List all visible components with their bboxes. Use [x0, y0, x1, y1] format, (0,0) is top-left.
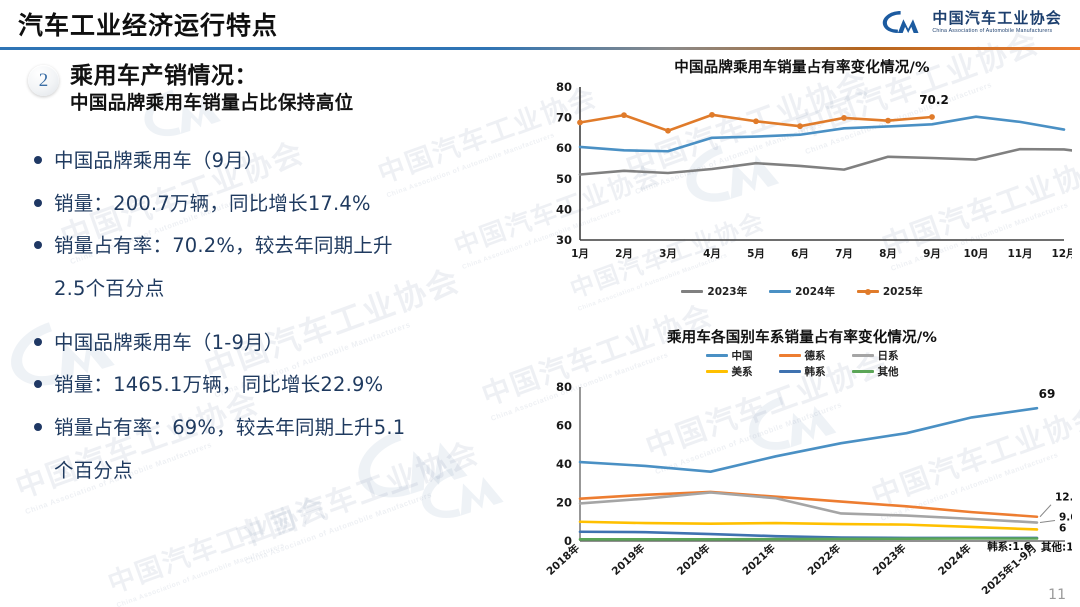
- data-label: 70.2: [919, 93, 949, 107]
- series-line-韩系: [580, 532, 1037, 538]
- chart-bottom-svg: 0204060802018年2019年2020年2021年2022年2023年2…: [532, 379, 1072, 594]
- bullet-text: 销量：1465.1万辆，同比增长22.9%: [54, 371, 383, 399]
- page-title: 汽车工业经济运行特点: [18, 6, 278, 42]
- data-label: 12.6: [1055, 492, 1072, 504]
- x-axis-tick-label: 2019年: [609, 541, 648, 578]
- series-line-日系: [580, 492, 1037, 522]
- x-axis-tick-label: 10月: [963, 248, 988, 260]
- legend-swatch: [706, 354, 728, 357]
- x-axis-tick-label: 9月: [923, 248, 941, 260]
- x-axis-tick-label: 4月: [703, 248, 721, 260]
- y-axis-tick-label: 40: [556, 457, 572, 471]
- bullet-text: 中国品牌乘用车（1-9月）: [54, 329, 283, 357]
- data-label: 69: [1039, 387, 1056, 401]
- bullet-text: 个百分点: [54, 457, 133, 485]
- legend-swatch: [852, 354, 874, 357]
- legend-label: 其他: [878, 364, 899, 379]
- y-axis-tick-label: 20: [556, 496, 572, 510]
- x-axis-tick-label: 2021年: [740, 541, 779, 578]
- legend-swatch: [681, 290, 703, 293]
- section-heading: 2 乘用车产销情况： 中国品牌乘用车销量占比保持高位: [28, 62, 354, 115]
- legend-item-韩系: 韩系: [779, 364, 826, 379]
- series-marker-2025年: [577, 120, 583, 126]
- chart-china-brand-share: 中国品牌乘用车销量占有率变化情况/% 3040506070801月2月3月4月5…: [532, 56, 1072, 316]
- legend-label: 韩系: [805, 364, 826, 379]
- legend-item-其他: 其他: [852, 364, 899, 379]
- x-axis-tick-label: 5月: [747, 248, 765, 260]
- series-marker-2025年: [929, 114, 935, 120]
- chart-bottom-legend: 中国德系日系美系韩系其他: [532, 348, 1072, 379]
- bullet-item: 个百分点: [34, 457, 520, 485]
- y-axis-tick-label: 60: [556, 141, 572, 155]
- x-axis-tick-label: 2023年: [870, 541, 909, 578]
- page-number: 11: [1048, 587, 1066, 603]
- x-axis-tick-label: 12月: [1051, 248, 1072, 260]
- legend-item-美系: 美系: [706, 364, 753, 379]
- bullet-text: 2.5个百分点: [54, 275, 164, 303]
- series-line-其他: [580, 538, 1037, 539]
- legend-label: 2025年: [883, 284, 923, 299]
- caam-logo-icon: [880, 8, 924, 36]
- legend-swatch: [769, 290, 791, 293]
- bullet-item: 2.5个百分点: [34, 275, 520, 303]
- series-marker-2025年: [665, 128, 671, 134]
- y-axis-tick-label: 50: [556, 172, 572, 186]
- legend-item-中国: 中国: [706, 348, 753, 363]
- x-axis-tick-label: 8月: [879, 248, 897, 260]
- legend-swatch: [779, 354, 801, 357]
- leader-line-japan: [1040, 521, 1055, 523]
- bullet-list: 中国品牌乘用车（9月）销量：200.7万辆，同比增长17.4%销量占有率：70.…: [34, 147, 520, 500]
- legend-item-日系: 日系: [852, 348, 899, 363]
- data-label: 韩系:1.6: [987, 540, 1031, 553]
- legend-swatch: [706, 370, 728, 373]
- bullet-dot-icon: [34, 156, 42, 164]
- chart-top-legend: 2023年2024年2025年: [532, 284, 1072, 299]
- legend-swatch: [779, 370, 801, 373]
- x-axis-tick-group: 2021年: [740, 541, 779, 578]
- x-axis-tick-label: 2020年: [674, 541, 713, 578]
- x-axis-tick-label: 2024年: [935, 541, 974, 578]
- section-number: 2: [39, 71, 49, 90]
- legend-label: 德系: [805, 348, 826, 363]
- bullet-text: 中国品牌乘用车（9月）: [54, 147, 264, 175]
- logo-title-cn: 中国汽车工业协会: [932, 10, 1062, 27]
- bullet-item: 销量：200.7万辆，同比增长17.4%: [34, 190, 520, 218]
- legend-item-2024年: 2024年: [769, 284, 835, 299]
- section-title-line1: 乘用车产销情况：: [70, 62, 354, 90]
- data-label: 其他:1.3: [1041, 540, 1072, 553]
- bullet-text: 销量占有率：70.2%，较去年同期上升: [54, 232, 393, 260]
- x-axis-tick-group: 2024年: [935, 541, 974, 578]
- bullet-dot-icon: [34, 380, 42, 388]
- legend-label: 中国: [732, 348, 753, 363]
- x-axis-tick-label: 2022年: [805, 541, 844, 578]
- chart-bottom-title: 乘用车各国别车系销量占有率变化情况/%: [532, 326, 1072, 347]
- bullet-dot-icon: [34, 338, 42, 346]
- y-axis-tick-label: 40: [556, 202, 572, 216]
- bullet-item: 中国品牌乘用车（1-9月）: [34, 329, 520, 357]
- bullet-text: 销量：200.7万辆，同比增长17.4%: [54, 190, 371, 218]
- series-marker-2025年: [709, 112, 715, 118]
- series-line-中国: [580, 408, 1037, 472]
- x-axis-tick-label: 11月: [1007, 248, 1032, 260]
- x-axis-tick-label: 6月: [791, 248, 809, 260]
- leader-line-degi: [1040, 505, 1051, 517]
- legend-label: 美系: [732, 364, 753, 379]
- bullet-item: 中国品牌乘用车（9月）: [34, 147, 520, 175]
- bullet-text: 销量占有率：69%，较去年同期上升5.1: [54, 414, 405, 442]
- chart-top-title: 中国品牌乘用车销量占有率变化情况/%: [532, 56, 1072, 77]
- series-marker-2025年: [621, 112, 627, 118]
- legend-item-德系: 德系: [779, 348, 826, 363]
- x-axis-tick-group: 2022年: [805, 541, 844, 578]
- series-line-2023年: [580, 149, 1072, 174]
- legend-marker-dot: [865, 289, 871, 295]
- y-axis-tick-label: 60: [556, 419, 572, 433]
- y-axis-tick-label: 80: [556, 380, 572, 394]
- logo-title-en: China Association of Automobile Manufact…: [932, 29, 1062, 34]
- caam-logo: 中国汽车工业协会 China Association of Automobile…: [880, 8, 1062, 36]
- section-title-line2: 中国品牌乘用车销量占比保持高位: [70, 92, 354, 115]
- bullet-dot-icon: [34, 199, 42, 207]
- series-marker-2025年: [841, 115, 847, 121]
- legend-label: 2023年: [707, 284, 747, 299]
- data-label: 6: [1059, 522, 1066, 534]
- series-marker-2025年: [753, 118, 759, 124]
- chart-top-svg: 3040506070801月2月3月4月5月6月7月8月9月10月11月12月7…: [532, 77, 1072, 282]
- chart-bottom-plot: 0204060802018年2019年2020年2021年2022年2023年2…: [532, 379, 1072, 594]
- series-line-德系: [580, 492, 1037, 517]
- y-axis-tick-label: 80: [556, 80, 572, 94]
- bullet-dot-icon: [34, 241, 42, 249]
- bullet-item: 销量占有率：70.2%，较去年同期上升: [34, 232, 520, 260]
- series-marker-2025年: [797, 123, 803, 129]
- x-axis-tick-group: 2023年: [870, 541, 909, 578]
- legend-item-2025年: 2025年: [857, 284, 923, 299]
- x-axis-tick-group: 2019年: [609, 541, 648, 578]
- x-axis-tick-group: 2020年: [674, 541, 713, 578]
- legend-swatch: [852, 370, 874, 373]
- legend-label: 2024年: [795, 284, 835, 299]
- slide-root: 中国汽车工业协会China Association of Automobile …: [0, 0, 1080, 607]
- legend-label: 日系: [878, 348, 899, 363]
- left-content-panel: 2 乘用车产销情况： 中国品牌乘用车销量占比保持高位 中国品牌乘用车（9月）销量…: [0, 52, 532, 597]
- bullet-item: 销量占有率：69%，较去年同期上升5.1: [34, 414, 520, 442]
- bullet-dot-icon: [34, 423, 42, 431]
- x-axis-tick-label: 2月: [615, 248, 633, 260]
- x-axis-tick-label: 3月: [659, 248, 677, 260]
- chart-top-plot: 3040506070801月2月3月4月5月6月7月8月9月10月11月12月7…: [532, 77, 1072, 282]
- series-marker-2025年: [885, 118, 891, 124]
- header-divider: [0, 47, 1080, 50]
- y-axis-tick-label: 70: [556, 111, 572, 125]
- x-axis-tick-label: 1月: [571, 248, 589, 260]
- y-axis-tick-label: 30: [556, 233, 572, 247]
- bullet-item: 销量：1465.1万辆，同比增长22.9%: [34, 371, 520, 399]
- legend-item-2023年: 2023年: [681, 284, 747, 299]
- chart-brand-origin-share: 乘用车各国别车系销量占有率变化情况/% 中国德系日系美系韩系其他 0204060…: [532, 326, 1072, 601]
- x-axis-tick-label: 7月: [835, 248, 853, 260]
- section-number-badge: 2: [28, 65, 59, 96]
- series-line-美系: [580, 522, 1037, 530]
